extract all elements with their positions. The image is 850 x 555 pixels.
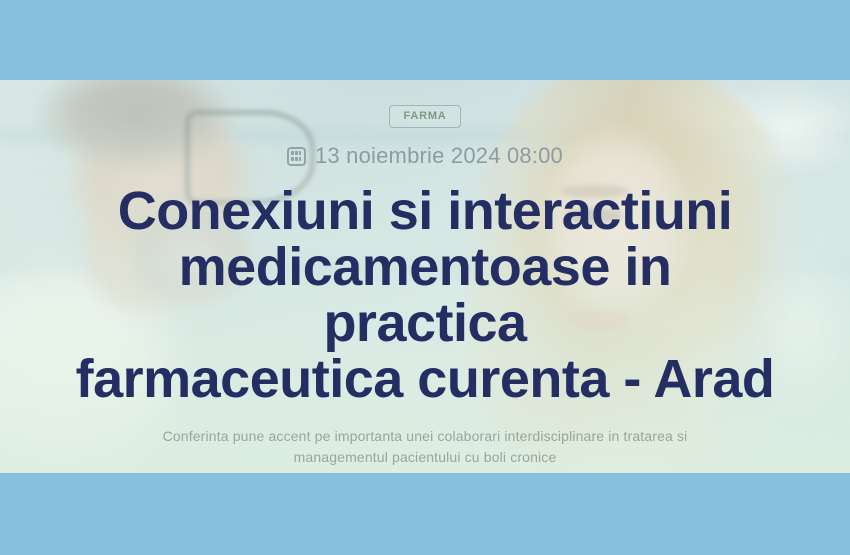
page-title-line-1: Conexiuni si interactiuni [118, 181, 733, 241]
event-date-text: 13 noiembrie 2024 08:00 [315, 143, 563, 169]
top-color-band [0, 0, 850, 80]
hero-content: FARMA 13 noiembrie 2024 08:00 Conexiuni … [0, 80, 850, 473]
event-hero-page: FARMA 13 noiembrie 2024 08:00 Conexiuni … [0, 0, 850, 555]
event-description: Conferinta pune accent pe importanta une… [135, 426, 715, 468]
category-badge[interactable]: FARMA [389, 105, 460, 128]
event-date-row: 13 noiembrie 2024 08:00 [0, 143, 850, 169]
page-title: Conexiuni si interactiuni medicamentoase… [75, 183, 775, 408]
bottom-color-band [0, 473, 850, 555]
page-title-line-3: farmaceutica curenta - Arad [76, 349, 775, 409]
calendar-icon [287, 147, 306, 166]
page-title-line-2: medicamentoase in practica [179, 237, 672, 353]
